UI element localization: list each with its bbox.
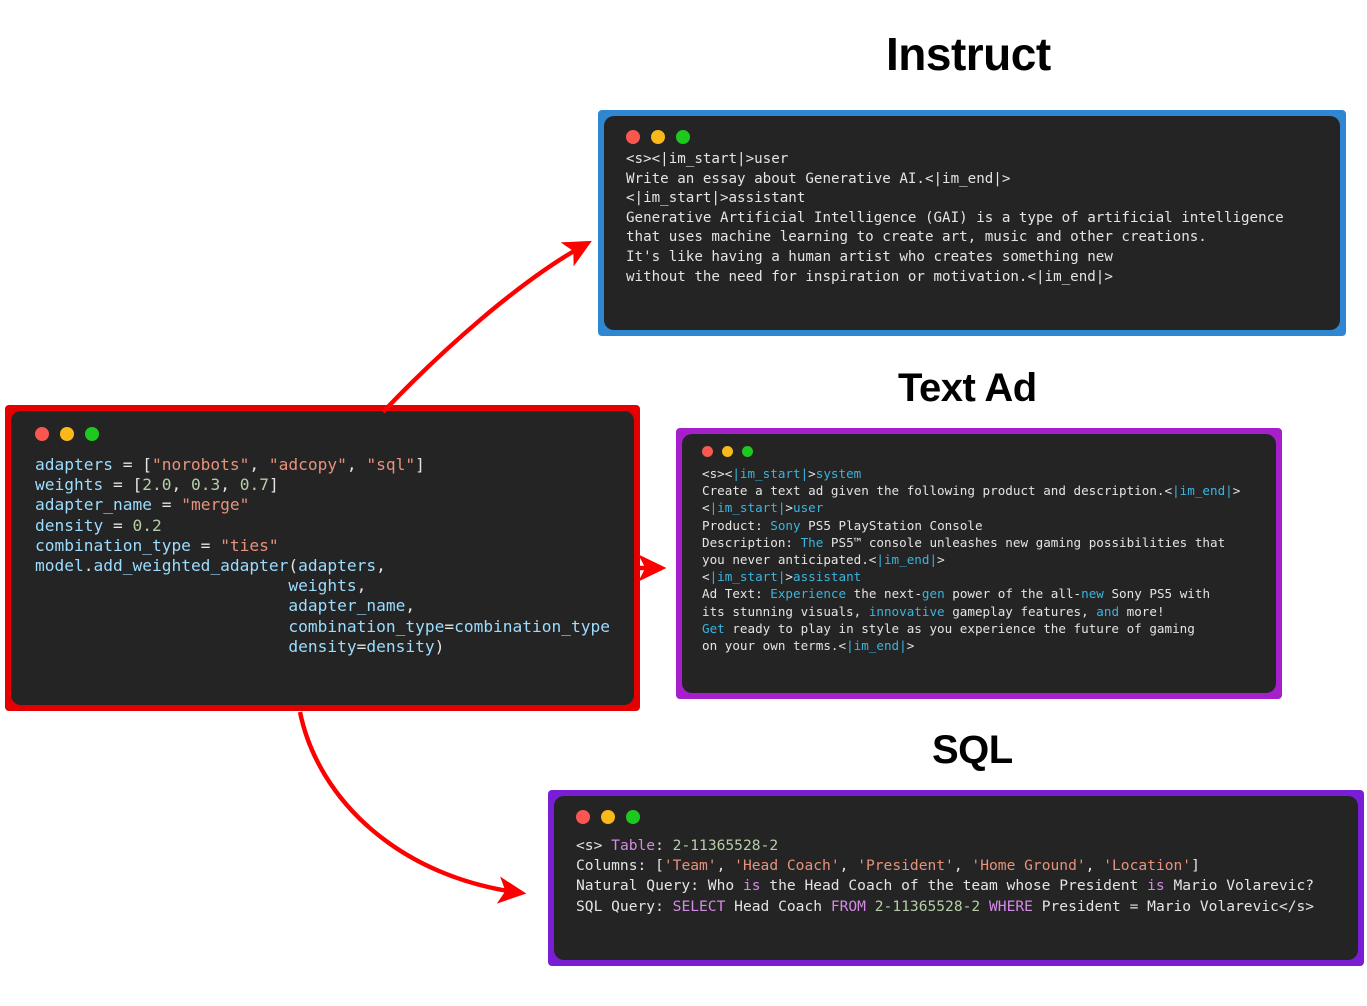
- code-token: you never anticipated.<: [702, 552, 876, 567]
- maximize-dot-icon[interactable]: [676, 130, 690, 144]
- code-token: ,: [220, 475, 240, 494]
- code-token: |im_end|: [876, 552, 937, 567]
- code-token: 2.0: [142, 475, 171, 494]
- code-token: Head Coach: [725, 898, 830, 915]
- code-token: [980, 898, 989, 915]
- code-token: |im_start|: [710, 569, 786, 584]
- code-line: without the need for inspiration or moti…: [626, 268, 1330, 288]
- code-token: adapters: [35, 455, 113, 474]
- code-token: 'Team': [664, 857, 717, 874]
- code-token: =: [444, 617, 454, 636]
- code-token: [35, 617, 288, 636]
- code-token: ,: [357, 576, 367, 595]
- code-token: weights: [288, 576, 356, 595]
- terminal-body-instruct: <s><|im_start|>userWrite an essay about …: [604, 116, 1340, 330]
- code-token: 'Head Coach': [734, 857, 839, 874]
- code-token: <|im_start|>assistant: [626, 190, 805, 206]
- close-dot-icon[interactable]: [35, 427, 49, 441]
- code-token: without the need for inspiration or moti…: [626, 269, 1113, 285]
- code-token: Ad Text:: [702, 586, 770, 601]
- code-token: It's like having a human artist who crea…: [626, 249, 1113, 265]
- code-token: |im_start|: [710, 500, 786, 515]
- code-token: power of the all-: [945, 586, 1081, 601]
- heading-text-ad: Text Ad: [898, 366, 1037, 411]
- code-token: its stunning visuals,: [702, 604, 869, 619]
- code-token: |im_end|: [846, 638, 907, 653]
- code-token: ,: [376, 556, 386, 575]
- code-token: combination_type: [288, 617, 444, 636]
- code-line: <s><|im_start|>system: [702, 465, 1268, 482]
- code-token: innovative: [869, 604, 945, 619]
- code-token: [35, 576, 288, 595]
- code-token: (: [288, 556, 298, 575]
- code-token: = [: [103, 475, 142, 494]
- code-token: density: [366, 637, 434, 656]
- code-token: is: [743, 877, 761, 894]
- code-token: system: [816, 466, 862, 481]
- terminal-window-text-ad: <s><|im_start|>systemCreate a text ad gi…: [676, 428, 1282, 699]
- code-token: ,: [954, 857, 972, 874]
- code-line: its stunning visuals, innovative gamepla…: [702, 603, 1268, 620]
- code-line: model.add_weighted_adapter(adapters,: [35, 556, 624, 576]
- code-line: Generative Artificial Intelligence (GAI)…: [626, 209, 1330, 229]
- window-controls-merge-code: [35, 427, 624, 441]
- code-token: <s>: [576, 837, 611, 854]
- code-token: [866, 898, 875, 915]
- code-line: Natural Query: Who is the Head Coach of …: [576, 876, 1350, 896]
- code-line: Create a text ad given the following pro…: [702, 482, 1268, 499]
- code-token: gen: [922, 586, 945, 601]
- terminal-body-merge-code: adapters = ["norobots", "adcopy", "sql"]…: [11, 411, 634, 705]
- code-token: >: [937, 552, 945, 567]
- code-token: ,: [171, 475, 191, 494]
- code-line: <|im_start|>assistant: [702, 568, 1268, 585]
- terminal-window-merge-code: adapters = ["norobots", "adcopy", "sql"]…: [5, 405, 640, 711]
- code-content-sql: <s> Table: 2-11365528-2Columns: ['Team',…: [576, 836, 1350, 917]
- code-token: 'President': [857, 857, 954, 874]
- code-token: Experience: [770, 586, 846, 601]
- code-token: "norobots": [152, 455, 249, 474]
- code-token: and: [1096, 604, 1119, 619]
- code-token: Generative Artificial Intelligence (GAI)…: [626, 210, 1284, 226]
- code-line: SQL Query: SELECT Head Coach FROM 2-1136…: [576, 897, 1350, 917]
- code-token: 0.7: [240, 475, 269, 494]
- code-token: 2-11365528-2: [673, 837, 778, 854]
- code-token: assistant: [793, 569, 861, 584]
- code-token: ready to play in style as you experience…: [725, 621, 1195, 636]
- arrow-merge-to-sql: [300, 712, 522, 893]
- code-token: Description:: [702, 535, 801, 550]
- code-token: >: [785, 569, 793, 584]
- code-token: <: [702, 500, 710, 515]
- code-token: Sony PS5 with: [1104, 586, 1210, 601]
- code-token: ): [435, 637, 445, 656]
- code-token: Product:: [702, 518, 770, 533]
- code-token: The: [801, 535, 824, 550]
- close-dot-icon[interactable]: [576, 810, 590, 824]
- code-token: [35, 596, 288, 615]
- code-line: Columns: ['Team', 'Head Coach', 'Preside…: [576, 856, 1350, 876]
- terminal-window-sql: <s> Table: 2-11365528-2Columns: ['Team',…: [548, 790, 1364, 966]
- heading-sql: SQL: [932, 728, 1013, 773]
- code-token: "adcopy": [269, 455, 347, 474]
- code-token: =: [191, 536, 220, 555]
- code-token: ,: [249, 455, 269, 474]
- code-token: add_weighted_adapter: [93, 556, 288, 575]
- minimize-dot-icon[interactable]: [601, 810, 615, 824]
- code-line: adapters = ["norobots", "adcopy", "sql"]: [35, 455, 624, 475]
- code-token: the Head Coach of the team whose Preside…: [761, 877, 1148, 894]
- code-token: ,: [1086, 857, 1104, 874]
- minimize-dot-icon[interactable]: [60, 427, 74, 441]
- code-token: 2-11365528-2: [875, 898, 980, 915]
- code-token: >: [808, 466, 816, 481]
- code-token: ,: [840, 857, 858, 874]
- code-token: <s><: [702, 466, 732, 481]
- code-token: |im_end|: [1172, 483, 1233, 498]
- code-token: ,: [347, 455, 367, 474]
- code-line: you never anticipated.<|im_end|>: [702, 551, 1268, 568]
- code-token: Columns: [: [576, 857, 664, 874]
- heading-instruct: Instruct: [886, 27, 1051, 81]
- code-token: is: [1147, 877, 1165, 894]
- code-line: It's like having a human artist who crea…: [626, 248, 1330, 268]
- code-token: the next-: [846, 586, 922, 601]
- code-token: :: [655, 837, 673, 854]
- code-token: "sql": [366, 455, 415, 474]
- maximize-dot-icon[interactable]: [626, 810, 640, 824]
- code-token: Create a text ad given the following pro…: [702, 483, 1172, 498]
- code-token: adapter_name: [35, 495, 152, 514]
- code-token: 0.3: [191, 475, 220, 494]
- window-controls-sql: [576, 810, 1350, 824]
- close-dot-icon[interactable]: [626, 130, 640, 144]
- code-token: 'Location': [1103, 857, 1191, 874]
- code-token: 0.2: [132, 516, 161, 535]
- code-line: that uses machine learning to create art…: [626, 228, 1330, 248]
- code-token: >: [785, 500, 793, 515]
- code-content-instruct: <s><|im_start|>userWrite an essay about …: [626, 150, 1330, 287]
- code-token: Mario Volarevic?: [1165, 877, 1314, 894]
- code-line: adapter_name = "merge": [35, 495, 624, 515]
- maximize-dot-icon[interactable]: [742, 446, 753, 457]
- code-token: >: [907, 638, 915, 653]
- code-token: "merge": [181, 495, 249, 514]
- code-token: combination_type: [35, 536, 191, 555]
- code-token: Table: [611, 837, 655, 854]
- terminal-body-sql: <s> Table: 2-11365528-2Columns: ['Team',…: [554, 796, 1358, 960]
- code-token: Get: [702, 621, 725, 636]
- code-token: that uses machine learning to create art…: [626, 229, 1207, 245]
- code-token: density: [35, 516, 103, 535]
- code-token: SELECT: [673, 898, 726, 915]
- code-line: <s> Table: 2-11365528-2: [576, 836, 1350, 856]
- code-token: 'Home Ground': [971, 857, 1085, 874]
- code-content-text-ad: <s><|im_start|>systemCreate a text ad gi…: [702, 465, 1268, 654]
- code-token: gameplay features,: [945, 604, 1097, 619]
- code-token: adapter_name: [288, 596, 405, 615]
- code-token: =: [152, 495, 181, 514]
- code-token: = [: [113, 455, 152, 474]
- code-line: on your own terms.<|im_end|>: [702, 637, 1268, 654]
- code-token: SQL Query:: [576, 898, 673, 915]
- code-line: weights = [2.0, 0.3, 0.7]: [35, 475, 624, 495]
- code-token: =: [103, 516, 132, 535]
- code-line: density = 0.2: [35, 516, 624, 536]
- code-token: <: [702, 569, 710, 584]
- code-token: ]: [1191, 857, 1200, 874]
- code-content-merge: adapters = ["norobots", "adcopy", "sql"]…: [35, 455, 624, 657]
- code-token: adapters: [298, 556, 376, 575]
- code-token: Natural Query: Who: [576, 877, 743, 894]
- code-token: ]: [269, 475, 279, 494]
- code-token: PS5 PlayStation Console: [801, 518, 983, 533]
- minimize-dot-icon[interactable]: [722, 446, 733, 457]
- code-token: model: [35, 556, 84, 575]
- code-token: Write an essay about Generative AI.<|im_…: [626, 171, 1010, 187]
- code-line: Product: Sony PS5 PlayStation Console: [702, 517, 1268, 534]
- code-token: Sony: [770, 518, 800, 533]
- code-line: Get ready to play in style as you experi…: [702, 620, 1268, 637]
- code-token: new: [1081, 586, 1104, 601]
- code-token: "ties": [220, 536, 278, 555]
- code-token: ,: [405, 596, 415, 615]
- code-token: density: [288, 637, 356, 656]
- window-controls-text-ad: [702, 446, 1268, 457]
- code-token: WHERE: [989, 898, 1033, 915]
- code-line: <|im_start|>assistant: [626, 189, 1330, 209]
- code-token: |im_start|: [732, 466, 808, 481]
- minimize-dot-icon[interactable]: [651, 130, 665, 144]
- code-token: PS5™ console unleashes new gaming possib…: [823, 535, 1225, 550]
- terminal-window-instruct: <s><|im_start|>userWrite an essay about …: [598, 110, 1346, 336]
- maximize-dot-icon[interactable]: [85, 427, 99, 441]
- code-line: Ad Text: Experience the next-gen power o…: [702, 585, 1268, 602]
- code-token: <s><|im_start|>user: [626, 151, 788, 167]
- code-line: density=density): [35, 637, 624, 657]
- code-line: <|im_start|>user: [702, 499, 1268, 516]
- code-token: more!: [1119, 604, 1165, 619]
- code-token: [35, 637, 288, 656]
- code-token: >: [1233, 483, 1241, 498]
- code-token: user: [793, 500, 823, 515]
- code-token: on your own terms.<: [702, 638, 846, 653]
- close-dot-icon[interactable]: [702, 446, 713, 457]
- code-line: adapter_name,: [35, 596, 624, 616]
- arrow-merge-to-instruct: [383, 243, 588, 412]
- code-line: Write an essay about Generative AI.<|im_…: [626, 170, 1330, 190]
- code-token: combination_type: [454, 617, 610, 636]
- code-line: Description: The PS5™ console unleashes …: [702, 534, 1268, 551]
- code-line: <s><|im_start|>user: [626, 150, 1330, 170]
- code-line: combination_type = "ties": [35, 536, 624, 556]
- code-token: =: [357, 637, 367, 656]
- code-token: ]: [415, 455, 425, 474]
- code-token: weights: [35, 475, 103, 494]
- terminal-body-text-ad: <s><|im_start|>systemCreate a text ad gi…: [682, 434, 1276, 693]
- code-token: FROM: [831, 898, 866, 915]
- code-line: weights,: [35, 576, 624, 596]
- code-token: ,: [717, 857, 735, 874]
- window-controls-instruct: [626, 130, 1330, 144]
- code-line: combination_type=combination_type: [35, 617, 624, 637]
- code-token: President = Mario Volarevic</s>: [1033, 898, 1314, 915]
